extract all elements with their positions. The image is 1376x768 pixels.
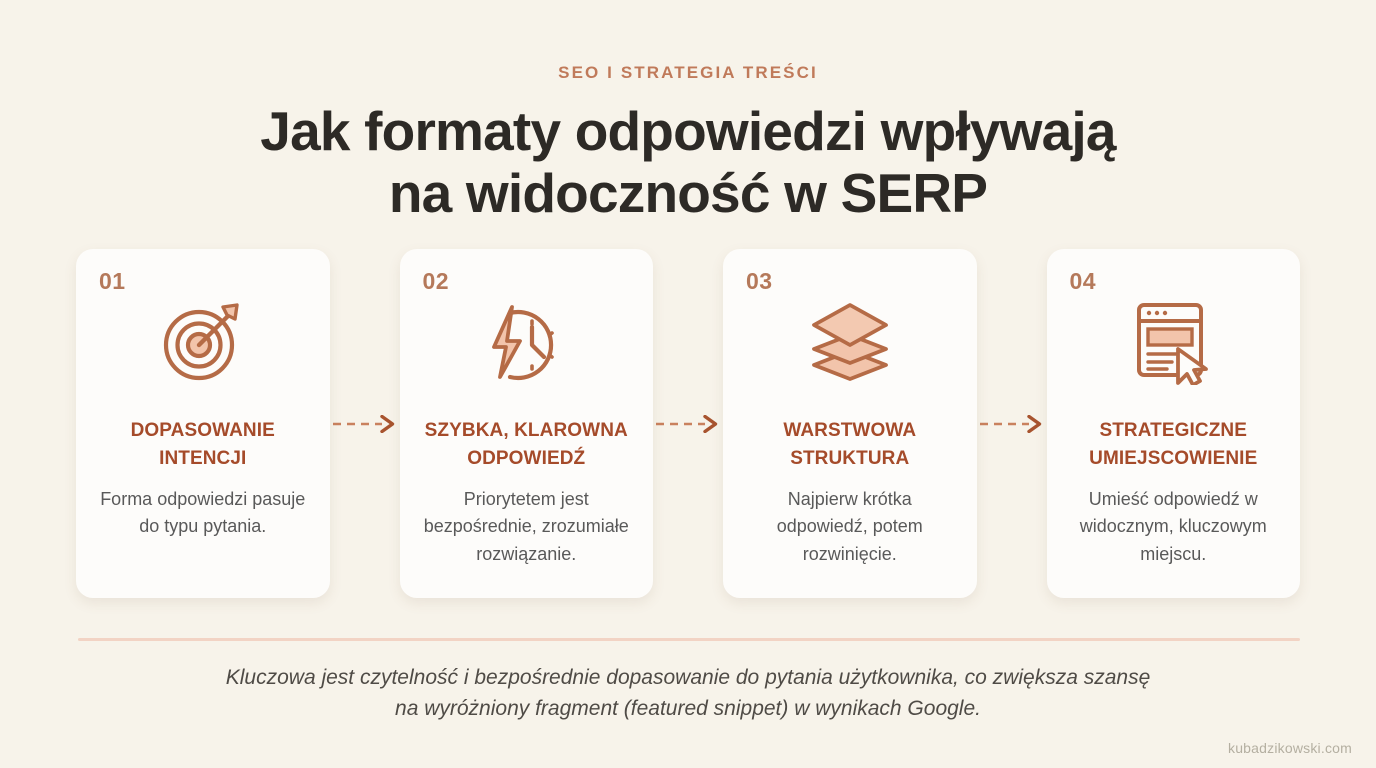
- card-description: Najpierw krótka odpowiedź, potem rozwini…: [741, 486, 959, 568]
- footer-note-line-2: na wyróżniony fragment (featured snippet…: [0, 693, 1376, 724]
- headline-line-2: na widoczność w SERP: [0, 163, 1376, 225]
- card-description: Forma odpowiedzi pasuje do typu pytania.: [94, 486, 312, 541]
- card-02[interactable]: 02 SZYBKA, KLAROWNA ODPOWIEDŹ Priorytete…: [400, 249, 654, 598]
- cards-row: 01 DOPASOWANIE INTENCJI Forma odpowiedzi…: [76, 249, 1300, 598]
- dashed-arrow-right-icon: [653, 414, 723, 434]
- header: SEO I STRATEGIA TREŚCI Jak formaty odpow…: [0, 0, 1376, 224]
- browser-cursor-icon: [1125, 295, 1221, 387]
- dashed-arrow-right-icon: [977, 414, 1047, 434]
- footer-note-line-1: Kluczowa jest czytelność i bezpośrednie …: [0, 662, 1376, 693]
- card-number: 02: [423, 268, 450, 295]
- card-title: WARSTWOWA STRUKTURA: [741, 417, 959, 472]
- clock-lightning-icon: [478, 295, 574, 387]
- target-arrow-icon: [155, 295, 251, 387]
- eyebrow-label: SEO I STRATEGIA TREŚCI: [0, 64, 1376, 81]
- card-title: SZYBKA, KLAROWNA ODPOWIEDŹ: [418, 417, 636, 472]
- card-number: 04: [1070, 268, 1097, 295]
- card-title: STRATEGICZNE UMIEJSCOWIENIE: [1065, 417, 1283, 472]
- card-title: DOPASOWANIE INTENCJI: [94, 417, 312, 472]
- headline-line-1: Jak formaty odpowiedzi wpływają: [260, 100, 1115, 162]
- card-01[interactable]: 01 DOPASOWANIE INTENCJI Forma odpowiedzi…: [76, 249, 330, 598]
- card-number: 03: [746, 268, 773, 295]
- card-03[interactable]: 03 WARSTWOWA STRUKTURA Najpierw krótka o…: [723, 249, 977, 598]
- section-divider: [78, 638, 1300, 641]
- card-description: Umieść odpowiedź w widocznym, kluczowym …: [1065, 486, 1283, 568]
- footer-note: Kluczowa jest czytelność i bezpośrednie …: [0, 662, 1376, 724]
- card-description: Priorytetem jest bezpośrednie, zrozumiał…: [418, 486, 636, 568]
- page-title: Jak formaty odpowiedzi wpływają na widoc…: [0, 101, 1376, 224]
- stacked-layers-icon: [802, 295, 898, 387]
- watermark: kubadzikowski.com: [1228, 740, 1352, 756]
- card-number: 01: [99, 268, 126, 295]
- card-04[interactable]: 04 STRATEGICZNE UMIEJSCOWIENIE Umieść od…: [1047, 249, 1301, 598]
- dashed-arrow-right-icon: [330, 414, 400, 434]
- infographic-page: SEO I STRATEGIA TREŚCI Jak formaty odpow…: [0, 0, 1376, 768]
